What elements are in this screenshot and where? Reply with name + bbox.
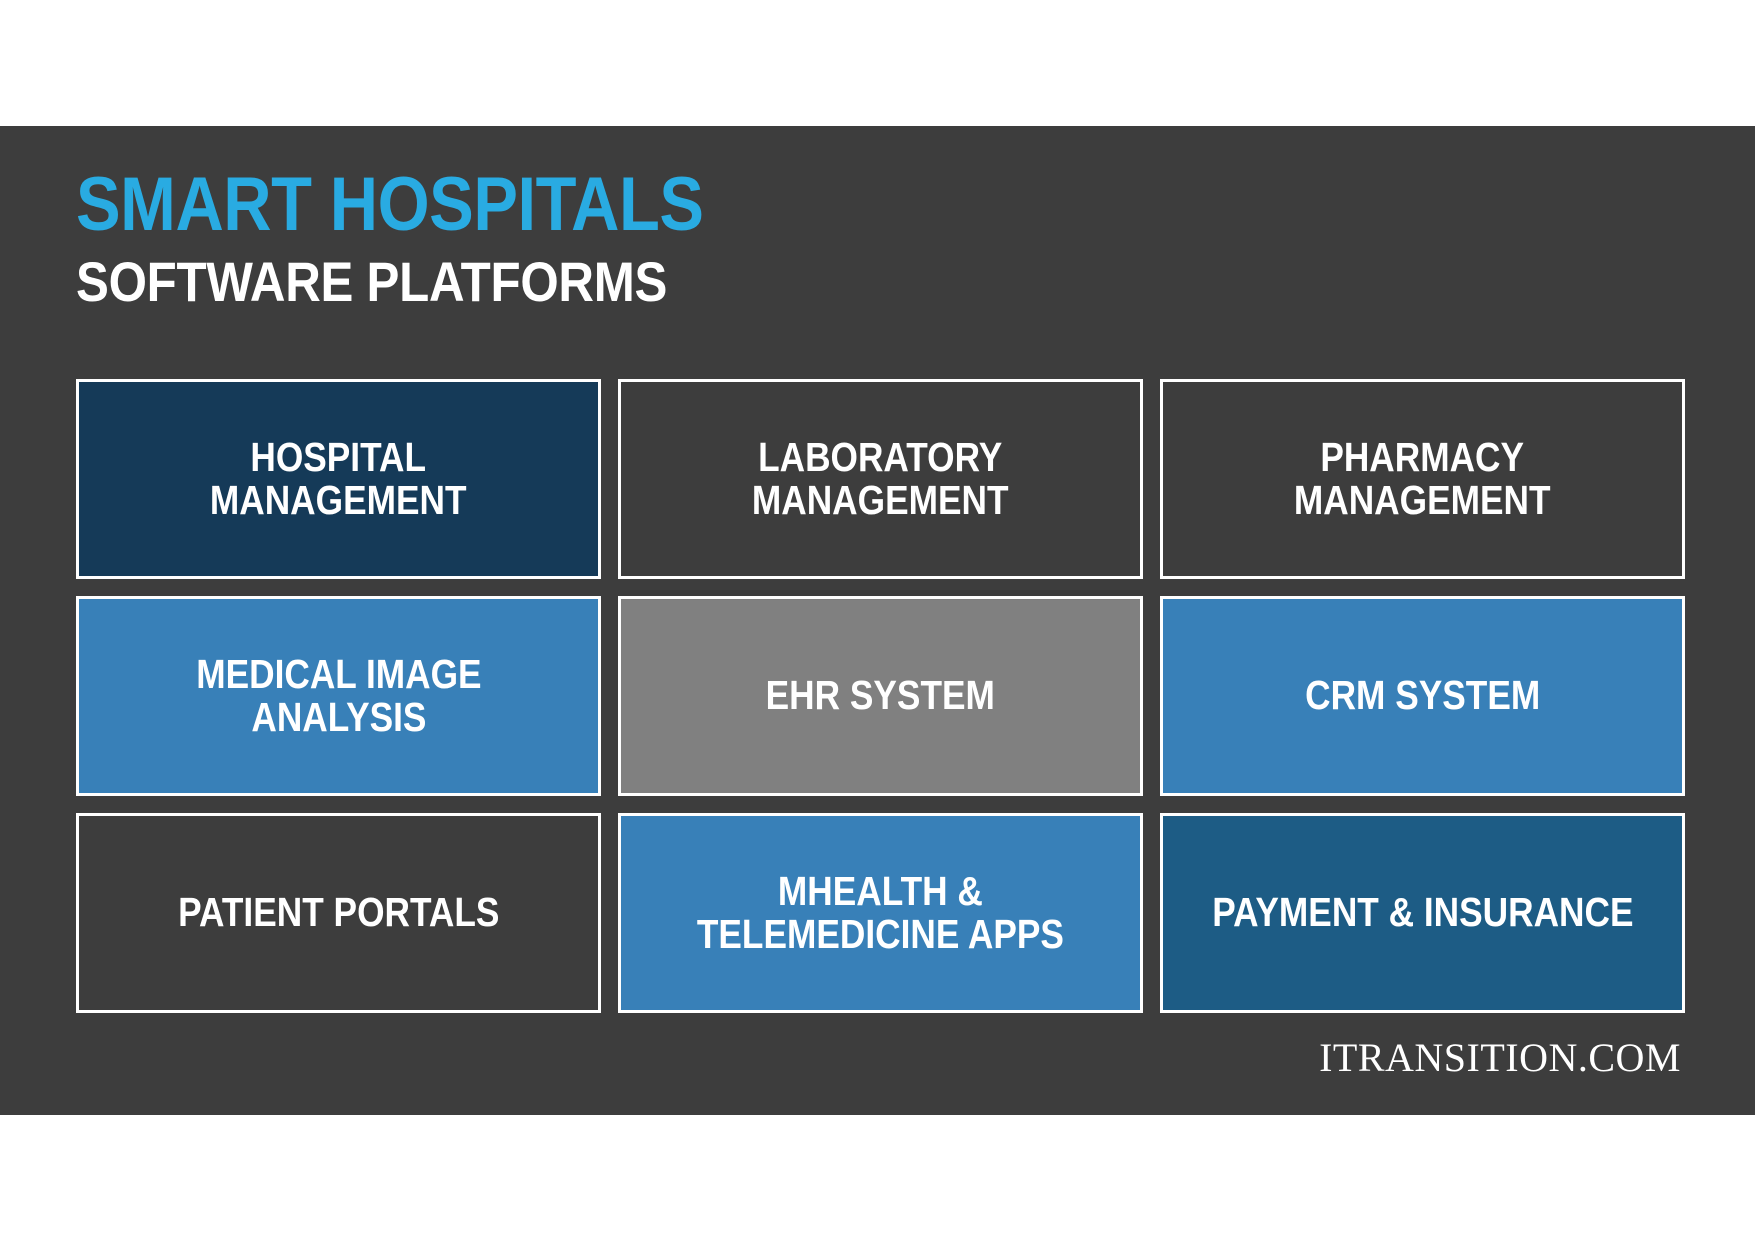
platform-cell[interactable]: EHR SYSTEM — [618, 596, 1143, 796]
heading-block: SMART HOSPITALS SOFTWARE PLATFORMS — [76, 170, 789, 310]
page-subtitle: SOFTWARE PLATFORMS — [76, 254, 704, 310]
platform-cell[interactable]: PHARMACY MANAGEMENT — [1160, 379, 1685, 579]
platform-cell-label: LABORATORY MANAGEMENT — [752, 436, 1009, 523]
page-title: SMART HOSPITALS — [76, 170, 704, 240]
platform-grid: HOSPITAL MANAGEMENTLABORATORY MANAGEMENT… — [76, 379, 1686, 1013]
platform-cell-label: CRM SYSTEM — [1305, 674, 1540, 717]
dark-panel: SMART HOSPITALS SOFTWARE PLATFORMS HOSPI… — [0, 126, 1755, 1115]
platform-cell[interactable]: MEDICAL IMAGE ANALYSIS — [76, 596, 601, 796]
platform-cell[interactable]: PAYMENT & INSURANCE — [1160, 813, 1685, 1013]
platform-cell-label: MEDICAL IMAGE ANALYSIS — [196, 653, 481, 740]
platform-cell[interactable]: MHEALTH & TELEMEDICINE APPS — [618, 813, 1143, 1013]
platform-cell[interactable]: PATIENT PORTALS — [76, 813, 601, 1013]
platform-cell-label: PAYMENT & INSURANCE — [1212, 891, 1633, 934]
platform-cell-label: MHEALTH & TELEMEDICINE APPS — [697, 870, 1064, 957]
platform-cell[interactable]: HOSPITAL MANAGEMENT — [76, 379, 601, 579]
platform-cell-label: PHARMACY MANAGEMENT — [1294, 436, 1551, 523]
platform-cell[interactable]: CRM SYSTEM — [1160, 596, 1685, 796]
infographic-canvas: SMART HOSPITALS SOFTWARE PLATFORMS HOSPI… — [0, 0, 1755, 1241]
footer-attribution: ITRANSITION.COM — [1319, 1034, 1681, 1081]
platform-cell-label: PATIENT PORTALS — [178, 891, 499, 934]
platform-cell[interactable]: LABORATORY MANAGEMENT — [618, 379, 1143, 579]
platform-cell-label: HOSPITAL MANAGEMENT — [210, 436, 467, 523]
platform-cell-label: EHR SYSTEM — [766, 674, 995, 717]
